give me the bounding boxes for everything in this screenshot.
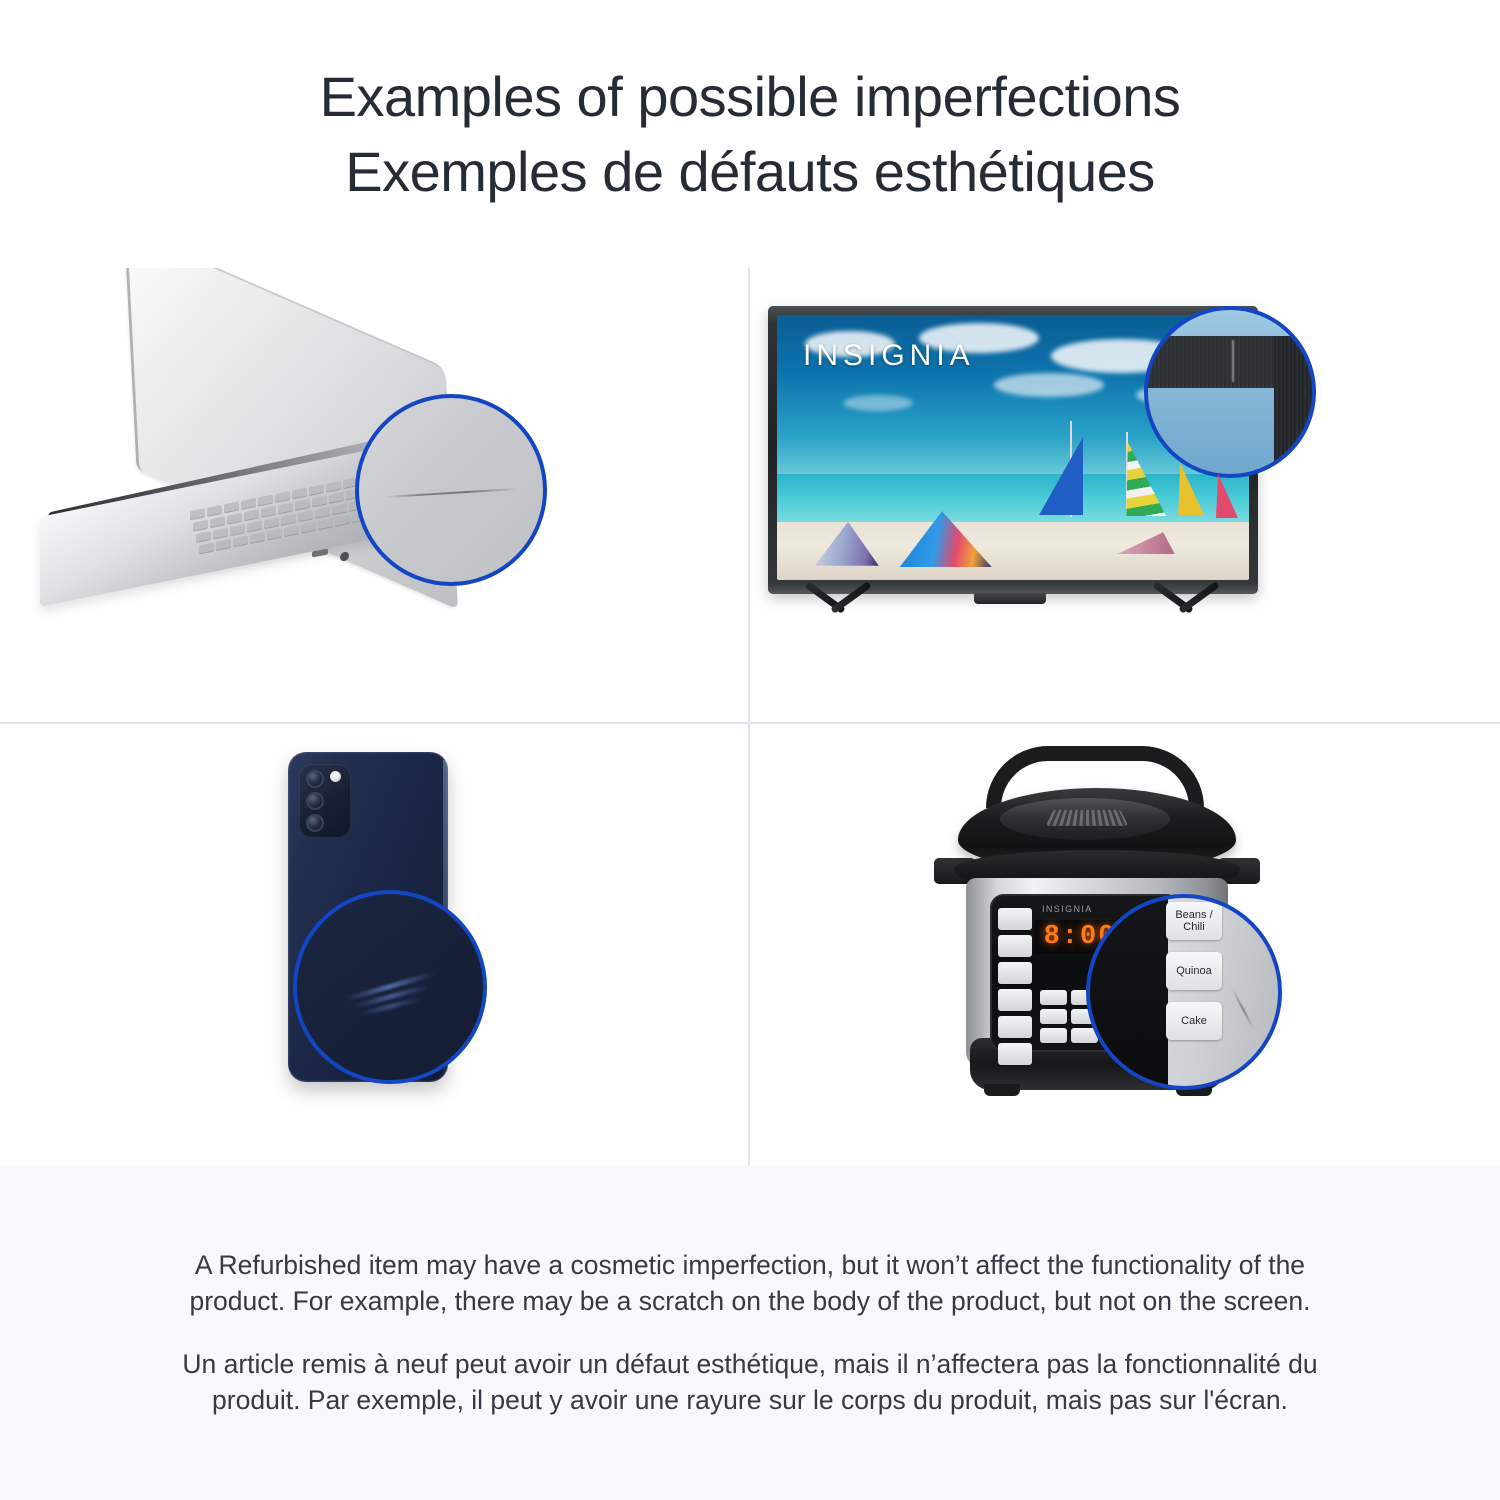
cooker-panel-magnified bbox=[1088, 896, 1168, 1088]
bezel-magnifier bbox=[1146, 308, 1314, 476]
example-cell-tv: INSIGNIA bbox=[750, 268, 1500, 722]
laptop-key bbox=[244, 509, 259, 520]
cooker-button[interactable] bbox=[1040, 990, 1067, 1005]
example-cell-phone bbox=[0, 724, 748, 1165]
body-scratch-magnifier: Beans / Chili Quinoa Cake bbox=[1088, 896, 1280, 1088]
phone-camera-lens bbox=[306, 770, 324, 788]
cooker-steam-valve bbox=[1046, 810, 1129, 826]
laptop-key bbox=[213, 528, 228, 539]
footer-paragraph-french: Un article remis à neuf peut avoir un dé… bbox=[178, 1346, 1323, 1418]
example-cell-laptop bbox=[0, 268, 748, 722]
tv-sea bbox=[777, 474, 1249, 524]
example-cell-pressure-cooker: INSIGNIA 8:00 StartFishSteam VeggiesBean… bbox=[750, 724, 1500, 1165]
phone-camera-module bbox=[299, 764, 351, 838]
cooker-left-button-column[interactable] bbox=[998, 908, 1032, 1065]
cooker-magnified-button: Cake bbox=[1166, 1002, 1222, 1040]
tv-bezel-right-magnified bbox=[1274, 336, 1314, 476]
laptop-key bbox=[267, 529, 282, 540]
phone-illustration bbox=[0, 724, 748, 1165]
cooker-button[interactable] bbox=[998, 908, 1032, 930]
laptop-key bbox=[281, 514, 296, 525]
laptop-key bbox=[193, 520, 208, 531]
laptop-key bbox=[284, 525, 299, 536]
tv-sailboat-blue bbox=[1039, 437, 1083, 515]
laptop-key bbox=[329, 492, 344, 503]
laptop-key bbox=[224, 501, 239, 512]
cooker-scratch-mark bbox=[1231, 988, 1254, 1030]
laptop-illustration bbox=[0, 268, 748, 722]
laptop-key bbox=[312, 495, 327, 506]
page-title-french: Exemples de défauts esthétiques bbox=[345, 137, 1154, 206]
phone-camera-lens bbox=[306, 814, 324, 832]
tv-brand-text: INSIGNIA bbox=[803, 339, 975, 373]
cooker-button[interactable] bbox=[998, 1016, 1032, 1038]
laptop-key bbox=[315, 507, 330, 518]
laptop-key bbox=[258, 494, 273, 505]
cooker-brand-text: INSIGNIA bbox=[1042, 904, 1093, 914]
laptop-key bbox=[292, 488, 307, 499]
laptop-key bbox=[275, 491, 290, 502]
footer-paragraph-english: A Refurbished item may have a cosmetic i… bbox=[178, 1247, 1323, 1319]
laptop-key bbox=[216, 539, 231, 550]
refurbished-imperfections-infographic: Examples of possible imperfections Exemp… bbox=[0, 0, 1500, 1500]
tv-stand-bar bbox=[974, 593, 1046, 604]
laptop-key bbox=[309, 484, 324, 495]
tv-illustration: INSIGNIA bbox=[750, 268, 1500, 722]
cooker-button[interactable] bbox=[998, 989, 1032, 1011]
laptop-key bbox=[233, 536, 248, 547]
laptop-key bbox=[326, 481, 341, 492]
laptop-key bbox=[241, 498, 256, 509]
cooker-magnified-button: Beans / Chili bbox=[1166, 902, 1222, 940]
laptop-key bbox=[335, 515, 350, 526]
laptop-key bbox=[278, 502, 293, 513]
scuff-magnifier bbox=[295, 892, 485, 1082]
tv-scratch-mark bbox=[1232, 340, 1234, 382]
laptop-key bbox=[295, 499, 310, 510]
laptop-key bbox=[264, 517, 279, 528]
laptop-key bbox=[261, 506, 276, 517]
laptop-key bbox=[210, 516, 225, 527]
laptop-key bbox=[230, 524, 245, 535]
page-header: Examples of possible imperfections Exemp… bbox=[0, 0, 1500, 268]
phone-flash-icon bbox=[330, 771, 341, 782]
page-title-english: Examples of possible imperfections bbox=[320, 62, 1181, 131]
cooker-illustration: INSIGNIA 8:00 StartFishSteam VeggiesBean… bbox=[750, 724, 1500, 1165]
scratch-magnifier bbox=[357, 396, 545, 584]
cooker-button[interactable] bbox=[1040, 1028, 1067, 1043]
laptop-key bbox=[301, 522, 316, 533]
phone-camera-lens bbox=[306, 792, 324, 810]
laptop-key bbox=[298, 510, 313, 521]
page-footer: A Refurbished item may have a cosmetic i… bbox=[0, 1165, 1500, 1500]
laptop-key bbox=[247, 521, 262, 532]
laptop-key bbox=[250, 532, 265, 543]
laptop-scratch-mark bbox=[385, 488, 517, 498]
cooker-button[interactable] bbox=[998, 935, 1032, 957]
cooker-button[interactable] bbox=[998, 962, 1032, 984]
examples-grid: INSIGNIA bbox=[0, 268, 1500, 1165]
tv-cloud bbox=[843, 395, 913, 411]
cooker-magnified-button: Quinoa bbox=[1166, 952, 1222, 990]
laptop-key bbox=[207, 505, 222, 516]
laptop-key bbox=[196, 531, 211, 542]
laptop-key bbox=[199, 542, 214, 553]
laptop-key bbox=[227, 513, 242, 524]
cooker-foot-left bbox=[984, 1084, 1020, 1096]
laptop-key bbox=[343, 477, 358, 488]
laptop-key bbox=[332, 503, 347, 514]
cooker-button[interactable] bbox=[998, 1043, 1032, 1065]
cooker-button[interactable] bbox=[1040, 1009, 1067, 1024]
laptop-key bbox=[318, 518, 333, 529]
laptop-key bbox=[190, 508, 205, 519]
